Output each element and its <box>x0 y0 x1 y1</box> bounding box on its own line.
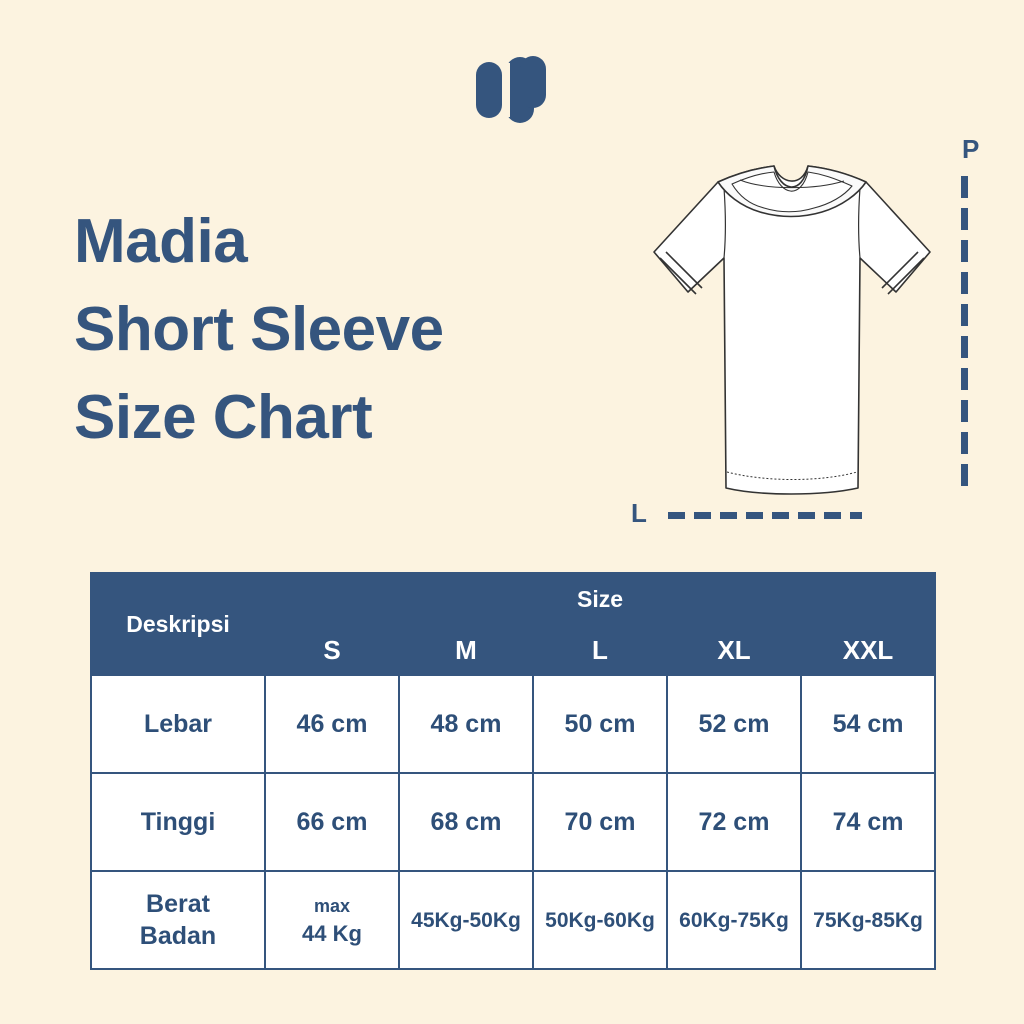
cell-lebar-l: 50 cm <box>533 675 667 773</box>
table-body: Lebar 46 cm 48 cm 50 cm 52 cm 54 cm Ting… <box>91 675 935 969</box>
table-row-lebar: Lebar 46 cm 48 cm 50 cm 52 cm 54 cm <box>91 675 935 773</box>
cell-tinggi-s: 66 cm <box>265 773 399 871</box>
title-line-1: Madia <box>74 198 614 286</box>
madia-bars-logo-icon <box>474 53 550 127</box>
cell-lebar-xl: 52 cm <box>667 675 801 773</box>
cell-berat-s: max 44 Kg <box>265 871 399 969</box>
size-chart-table: Deskripsi Size S M L XL XXL Lebar 46 cm … <box>90 572 936 970</box>
table-header: Deskripsi Size S M L XL XXL <box>91 573 935 675</box>
cell-tinggi-xl: 72 cm <box>667 773 801 871</box>
table-row-berat-badan: Berat Badan max 44 Kg 45Kg-50Kg 50Kg-60K… <box>91 871 935 969</box>
cell-tinggi-m: 68 cm <box>399 773 533 871</box>
cell-tinggi-l: 70 cm <box>533 773 667 871</box>
cell-lebar-xxl: 54 cm <box>801 675 935 773</box>
height-marker-dashed-line <box>961 176 968 496</box>
header-size-group: Size <box>265 573 935 625</box>
row-label-berat-line2: Badan <box>140 922 216 950</box>
brand-logo <box>0 50 1024 130</box>
cell-berat-m: 45Kg-50Kg <box>399 871 533 969</box>
cell-lebar-m: 48 cm <box>399 675 533 773</box>
header-row-group: Deskripsi Size <box>91 573 935 625</box>
cell-lebar-s: 46 cm <box>265 675 399 773</box>
title-line-3: Size Chart <box>74 374 614 462</box>
width-marker-dashed-line <box>668 512 862 519</box>
cell-berat-l: 50Kg-60Kg <box>533 871 667 969</box>
row-label-berat-badan: Berat Badan <box>91 871 265 969</box>
cell-berat-xxl: 75Kg-85Kg <box>801 871 935 969</box>
height-marker-label: P <box>962 136 979 162</box>
cell-tinggi-xxl: 74 cm <box>801 773 935 871</box>
width-marker-label: L <box>631 500 647 526</box>
header-size-s: S <box>265 625 399 675</box>
row-label-tinggi: Tinggi <box>91 773 265 871</box>
page-title: Madia Short Sleeve Size Chart <box>74 198 614 462</box>
tshirt-illustration <box>590 140 990 540</box>
cell-berat-s-line2: 44 Kg <box>266 920 398 947</box>
header-size-m: M <box>399 625 533 675</box>
cell-berat-xl: 60Kg-75Kg <box>667 871 801 969</box>
table-row-tinggi: Tinggi 66 cm 68 cm 70 cm 72 cm 74 cm <box>91 773 935 871</box>
cell-berat-s-line1: max <box>266 893 398 920</box>
header-deskripsi: Deskripsi <box>91 573 265 675</box>
short-sleeve-tshirt-icon <box>590 140 990 540</box>
header-size-xxl: XXL <box>801 625 935 675</box>
header-size-l: L <box>533 625 667 675</box>
title-line-2: Short Sleeve <box>74 286 614 374</box>
header-size-xl: XL <box>667 625 801 675</box>
row-label-berat-line1: Berat <box>146 890 210 918</box>
row-label-lebar: Lebar <box>91 675 265 773</box>
